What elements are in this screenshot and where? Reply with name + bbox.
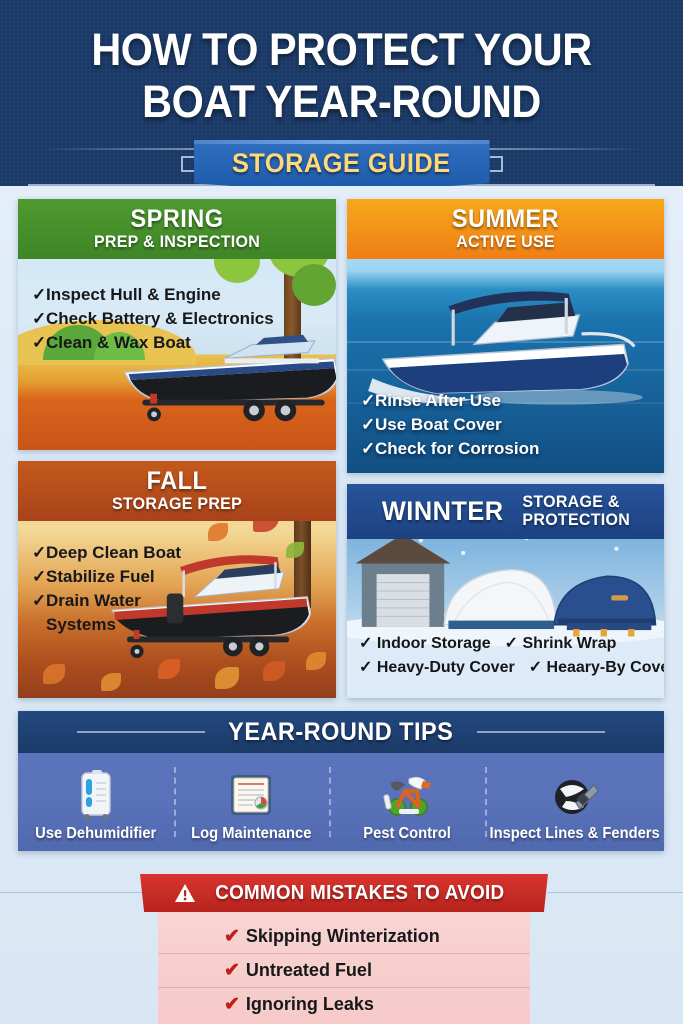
- check-icon: ✔: [224, 926, 240, 947]
- check-icon: ✓: [505, 635, 518, 652]
- check-icon: ✓: [32, 331, 46, 355]
- summer-item-2: Use Boat Cover: [375, 415, 502, 434]
- fall-subtitle: STORAGE PREP: [33, 494, 321, 513]
- check-icon: ✓: [32, 541, 46, 565]
- mistakes-title: COMMON MISTAKES TO AVOID: [215, 882, 504, 905]
- mistake-item-1: Skipping Winterization: [246, 926, 440, 946]
- tip-label: Log Maintenance: [191, 825, 311, 843]
- list-item: ✓Inspect Hull & Engine: [32, 283, 274, 307]
- spring-item-2: Check Battery & Electronics: [46, 309, 274, 328]
- list-item: ✓Clean & Wax Boat: [32, 331, 274, 355]
- year-round-tips-section: YEAR-ROUND TIPS Use Dehumidifier: [18, 711, 664, 851]
- mistakes-rule-left: [0, 892, 142, 893]
- season-panel-winter[interactable]: WINNTER STORAGE & PROTECTION ✓ Indoor St…: [347, 484, 664, 698]
- list-item: ✓ Heaary-By Cover: [529, 656, 664, 680]
- check-icon: ✓: [361, 413, 375, 437]
- page-title-line-2: BOAT YEAR-ROUND: [27, 76, 655, 128]
- storage-guide-label: STORAGE GUIDE: [232, 140, 451, 179]
- list-item: ✓ Heavy-Duty Cover: [359, 656, 515, 680]
- mistake-item-3: Ignoring Leaks: [246, 994, 374, 1014]
- list-item: ✓Rinse After Use: [361, 389, 539, 413]
- check-icon: ✓: [361, 437, 375, 461]
- common-mistakes-section: COMMON MISTAKES TO AVOID ✔Skipping Winte…: [140, 874, 548, 1009]
- tips-rule-left: [77, 731, 205, 733]
- logbook-icon: [223, 769, 279, 821]
- spring-checklist: ✓Inspect Hull & Engine ✓Check Battery & …: [32, 283, 274, 355]
- summer-subtitle: ACTIVE USE: [362, 232, 649, 251]
- list-item: ✓ Shrink Wrap: [505, 632, 617, 656]
- tips-title: YEAR-ROUND TIPS: [228, 718, 453, 747]
- check-icon: ✓: [359, 659, 372, 676]
- check-icon: ✓: [32, 589, 46, 613]
- dehumidifier-icon: [68, 769, 124, 821]
- list-item: ✔Untreated Fuel: [158, 954, 530, 988]
- mistakes-header: COMMON MISTAKES TO AVOID: [140, 874, 548, 912]
- mistake-item-2: Untreated Fuel: [246, 960, 372, 980]
- winter-season-label: WINNTER: [381, 498, 503, 524]
- check-icon: ✓: [361, 389, 375, 413]
- summer-checklist: ✓Rinse After Use ✓Use Boat Cover ✓Check …: [361, 389, 539, 461]
- list-item: ✓Stabilize Fuel: [32, 565, 181, 589]
- winter-checklist: ✓ Indoor Storage ✓ Shrink Wrap ✓ Heavy-D…: [359, 632, 654, 680]
- ribbon-notch-right: [490, 156, 503, 172]
- tips-header: YEAR-ROUND TIPS: [18, 711, 664, 753]
- fall-item-3-cont: Systems: [46, 615, 116, 634]
- fender-line-icon: [546, 769, 602, 821]
- fall-item-2: Stabilize Fuel: [46, 567, 155, 586]
- list-item: ✔Ignoring Leaks: [158, 988, 530, 1021]
- spring-subtitle: PREP & INSPECTION: [33, 232, 321, 251]
- season-panel-summer[interactable]: SUMMER ACTIVE USE ✓Rinse After Use ✓Use …: [347, 199, 664, 473]
- tip-log-maintenance[interactable]: Log Maintenance: [174, 753, 330, 851]
- list-item: ✔Skipping Winterization: [158, 920, 530, 954]
- fall-checklist: ✓Deep Clean Boat ✓Stabilize Fuel ✓Drain …: [32, 541, 181, 637]
- tips-rule-right: [477, 731, 605, 733]
- fall-season-label: FALL: [33, 468, 321, 494]
- tip-label: Pest Control: [363, 825, 451, 843]
- list-item: ✓Check for Corrosion: [361, 437, 539, 461]
- check-icon: ✓: [32, 307, 46, 331]
- winter-subtitle: STORAGE & PROTECTION: [522, 493, 630, 529]
- spring-header: SPRING PREP & INSPECTION: [18, 199, 336, 259]
- check-icon: ✓: [529, 659, 542, 676]
- tip-label: Use Dehumidifier: [35, 825, 156, 843]
- winter-item-1: Indoor Storage: [377, 635, 491, 652]
- list-item: ✓Use Boat Cover: [361, 413, 539, 437]
- spring-season-label: SPRING: [33, 206, 321, 232]
- check-icon: ✓: [32, 565, 46, 589]
- tips-body: Use Dehumidifier: [18, 753, 664, 851]
- check-icon: ✔: [224, 994, 240, 1015]
- list-item: ✓ Indoor Storage: [359, 632, 491, 656]
- winter-row-2: ✓ Heavy-Duty Cover ✓ Heaary-By Cover: [359, 656, 654, 680]
- season-panel-fall[interactable]: FALL STORAGE PREP ✓Deep Clean Boat ✓Stab…: [18, 461, 336, 698]
- check-icon: ✔: [224, 960, 240, 981]
- winter-header: WINNTER STORAGE & PROTECTION: [347, 484, 664, 539]
- winter-subtitle-line-2: PROTECTION: [522, 510, 630, 529]
- mistakes-list: ✔Skipping Winterization ✔Untreated Fuel …: [158, 912, 530, 1024]
- winter-row-1: ✓ Indoor Storage ✓ Shrink Wrap: [359, 632, 654, 656]
- check-icon: ✓: [359, 635, 372, 652]
- spring-item-3: Clean & Wax Boat: [46, 333, 191, 352]
- winter-item-4: Heaary-By Cover: [547, 659, 664, 676]
- summer-season-label: SUMMER: [362, 206, 649, 232]
- pest-sprayer-icon: [379, 769, 435, 821]
- summer-header: SUMMER ACTIVE USE: [347, 199, 664, 259]
- summer-item-3: Check for Corrosion: [375, 439, 539, 458]
- list-item: ✓Check Battery & Electronics: [32, 307, 274, 331]
- list-item: Systems: [32, 613, 181, 637]
- fall-header: FALL STORAGE PREP: [18, 461, 336, 521]
- mistakes-rule-right: [547, 892, 683, 893]
- winter-subtitle-line-1: STORAGE &: [522, 492, 619, 511]
- tip-label: Inspect Lines & Fenders: [489, 825, 659, 843]
- tip-pest-control[interactable]: Pest Control: [329, 753, 485, 851]
- winter-item-2: Shrink Wrap: [523, 635, 617, 652]
- header-banner: HOW TO PROTECT YOUR BOAT YEAR-ROUND STOR…: [0, 0, 683, 186]
- list-item: ✓Drain Water: [32, 589, 181, 613]
- storage-guide-ribbon-area: STORAGE GUIDE: [0, 140, 683, 186]
- list-item: ✓Deep Clean Boat: [32, 541, 181, 565]
- warning-triangle-icon: [174, 883, 196, 903]
- check-icon: ✓: [32, 283, 46, 307]
- season-panel-spring[interactable]: SPRING PREP & INSPECTION ✓Inspect Hull &…: [18, 199, 336, 450]
- summer-item-1: Rinse After Use: [375, 391, 501, 410]
- fall-item-3: Drain Water: [46, 591, 141, 610]
- winter-item-3: Heavy-Duty Cover: [377, 659, 515, 676]
- page-title-line-1: HOW TO PROTECT YOUR: [27, 0, 655, 76]
- spring-item-1: Inspect Hull & Engine: [46, 285, 221, 304]
- tip-inspect-lines-fenders[interactable]: Inspect Lines & Fenders: [485, 753, 664, 851]
- storage-guide-ribbon: STORAGE GUIDE: [194, 140, 490, 186]
- fall-item-1: Deep Clean Boat: [46, 543, 181, 562]
- ribbon-notch-left: [181, 156, 194, 172]
- tip-use-dehumidifier[interactable]: Use Dehumidifier: [18, 753, 174, 851]
